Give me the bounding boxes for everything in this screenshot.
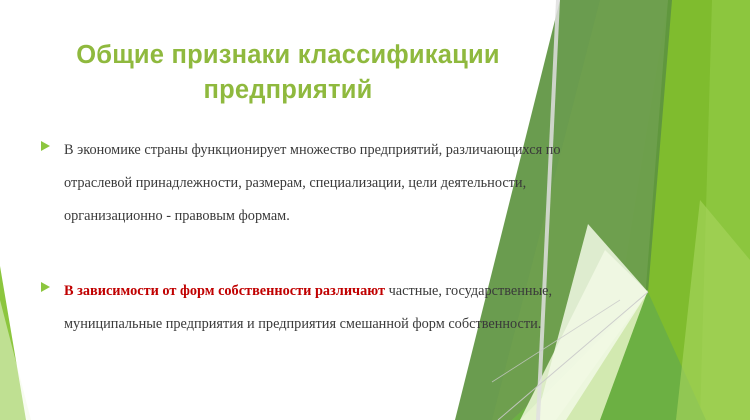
- triangle-right-icon: [41, 141, 50, 151]
- presentation-slide: Общие признаки классификации предприятий…: [0, 0, 750, 420]
- list-item: В экономике страны функционирует множест…: [38, 134, 568, 233]
- bullet-paragraph-2: В зависимости от форм собственности разл…: [64, 275, 568, 341]
- deco-shape-lime-accent: [676, 200, 750, 420]
- deco-shape-left-wedge: [0, 266, 26, 420]
- triangle-right-icon: [41, 282, 50, 292]
- list-item: В зависимости от форм собственности разл…: [38, 275, 568, 341]
- deco-shape-left-wedge-pale: [0, 300, 31, 420]
- bullet-list: В экономике страны функционирует множест…: [38, 134, 568, 341]
- deco-shape-bright-wedge: [600, 0, 712, 420]
- page-title: Общие признаки классификации предприятий: [62, 38, 514, 108]
- bullet-text-1: В экономике страны функционирует множест…: [64, 142, 561, 224]
- deco-shape-far-right: [655, 0, 750, 420]
- bullet-highlight-2: В зависимости от форм собственности разл…: [64, 283, 385, 299]
- bullet-paragraph-1: В экономике страны функционирует множест…: [64, 134, 568, 233]
